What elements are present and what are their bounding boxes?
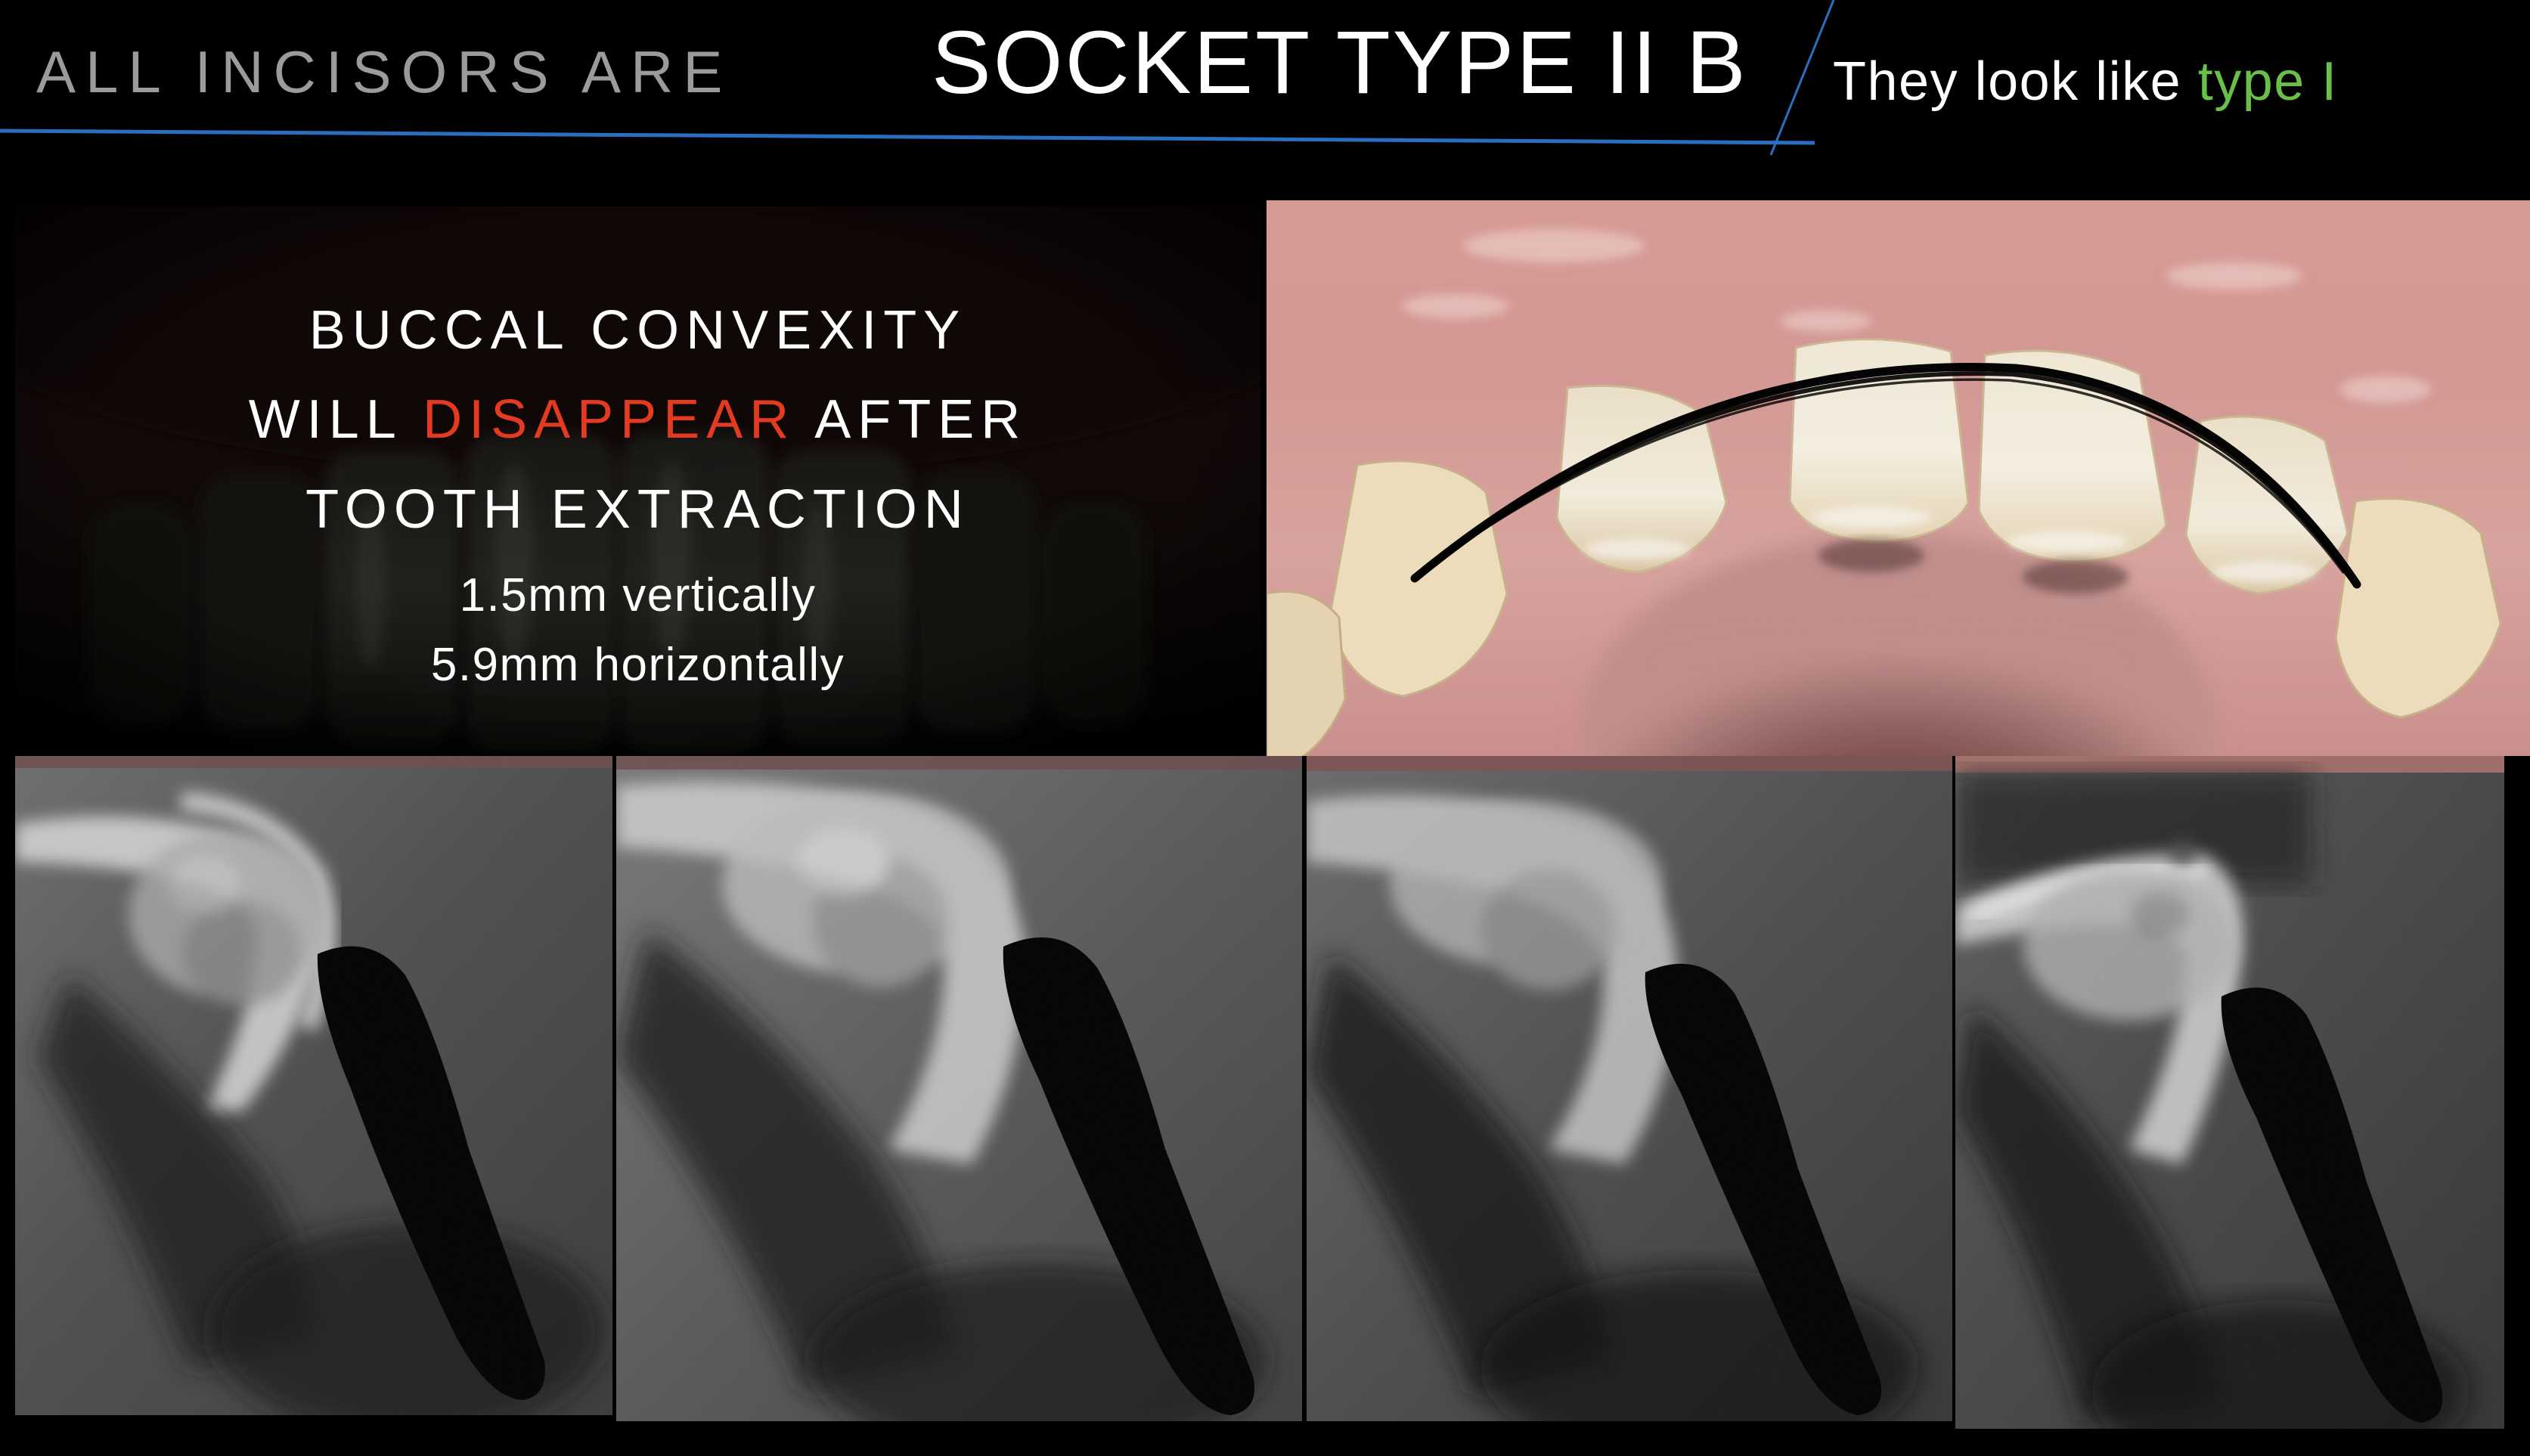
header-diagonal-divider — [1762, 0, 1853, 159]
subtitle-prefix: They look like — [1833, 51, 2198, 112]
cbct-slice-4 — [1955, 756, 2504, 1429]
subtitle: They look like type I — [1833, 54, 2338, 109]
cbct-slice-1-canvas — [15, 756, 612, 1415]
occlusal-photo-canvas — [1267, 200, 2530, 779]
left-text-line-1: BUCCAL CONVEXITY — [309, 296, 966, 367]
left-photo-panel: BUCCAL CONVEXITY WILL DISAPPEAR AFTER TO… — [15, 206, 1260, 758]
cbct-slice-2-canvas — [616, 756, 1302, 1421]
cbct-slice-1 — [15, 756, 612, 1415]
cbct-slice-4-canvas — [1955, 756, 2504, 1429]
cbct-slice-3 — [1307, 756, 1952, 1421]
header-underline-rule — [0, 129, 1815, 145]
left-text-highlight-disappear: DISAPPEAR — [423, 389, 795, 450]
left-text-line-2-c: AFTER — [795, 389, 1027, 450]
title-prefix: ALL INCISORS ARE — [36, 42, 732, 101]
page-title: SOCKET TYPE II B — [932, 18, 1748, 107]
subtitle-accent: type I — [2198, 51, 2338, 112]
measurement-vertical: 1.5mm vertically — [460, 565, 817, 627]
left-text-line-2-a: WILL — [249, 389, 423, 450]
cbct-slice-row — [0, 756, 2530, 1456]
left-text-line-3: TOOTH EXTRACTION — [305, 475, 970, 546]
cbct-slice-2 — [616, 756, 1302, 1421]
cbct-slice-3-canvas — [1307, 756, 1952, 1421]
measurement-horizontal: 5.9mm horizontally — [431, 635, 845, 696]
occlusal-clinical-photo — [1267, 200, 2530, 779]
left-panel-text-overlay: BUCCAL CONVEXITY WILL DISAPPEAR AFTER TO… — [15, 206, 1260, 758]
left-text-line-2: WILL DISAPPEAR AFTER — [249, 385, 1028, 456]
slide-header: ALL INCISORS ARE SOCKET TYPE II B They l… — [0, 0, 2530, 200]
